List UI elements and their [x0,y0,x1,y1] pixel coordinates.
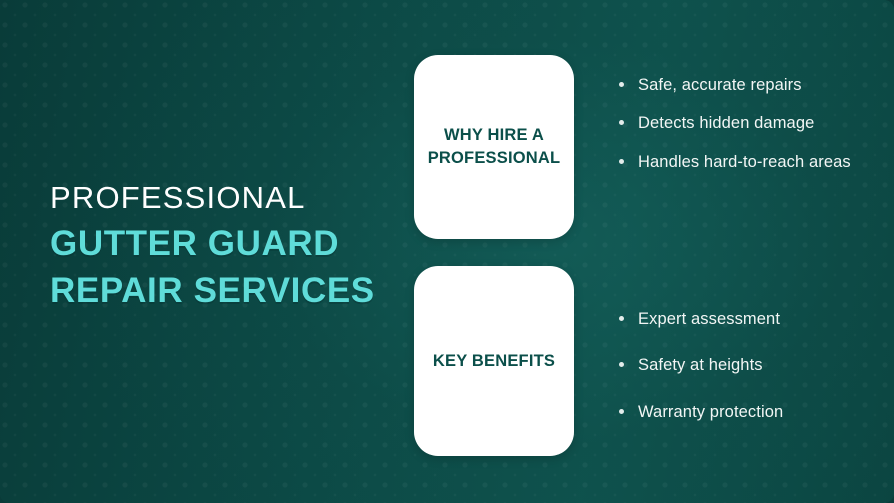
card-why-hire-a-professional: WHY HIRE A PROFESSIONAL [414,55,574,239]
bullet-list-key-benefits: Expert assessment Safety at heights Warr… [612,307,874,424]
list-item-label: Safe, accurate repairs [638,76,802,94]
headline-line-1: PROFESSIONAL [50,182,390,213]
list-item-label: Detects hidden damage [638,114,814,132]
list-item: Expert assessment [612,307,874,331]
headline-line-2: GUTTER GUARD [50,226,390,261]
list-item-label: Expert assessment [638,310,780,328]
card-key-benefits: KEY BENEFITS [414,266,574,456]
list-item: Handles hard-to-reach areas [612,150,874,174]
bullet-dot-icon [619,159,624,164]
list-item-label: Safety at heights [638,356,763,374]
bullet-dot-icon [619,120,624,125]
list-item-label: Warranty protection [638,403,783,421]
bullet-dot-icon [619,409,624,414]
bullet-dot-icon [619,316,624,321]
card-title: KEY BENEFITS [433,350,555,373]
bullet-dot-icon [619,82,624,87]
page-title: PROFESSIONAL GUTTER GUARD REPAIR SERVICE… [50,182,390,308]
headline-line-3: REPAIR SERVICES [50,273,390,308]
list-item: Detects hidden damage [612,111,874,135]
list-item: Safe, accurate repairs [612,73,874,97]
card-title: WHY HIRE A PROFESSIONAL [426,124,562,170]
bullet-list-why-hire-a-professional: Safe, accurate repairs Detects hidden da… [612,73,874,174]
list-item: Warranty protection [612,400,874,424]
list-item: Safety at heights [612,353,874,377]
bullet-dot-icon [619,362,624,367]
list-item-label: Handles hard-to-reach areas [638,153,851,171]
slide-canvas: PROFESSIONAL GUTTER GUARD REPAIR SERVICE… [0,0,894,503]
